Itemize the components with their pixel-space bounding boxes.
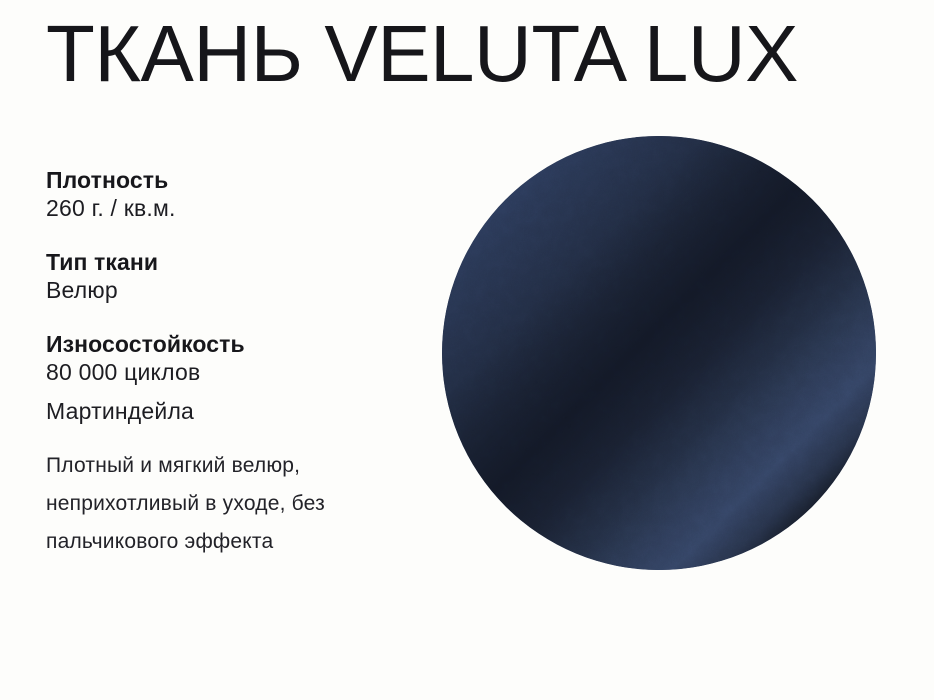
- spec-item-abrasion-resistance: Износостойкость 80 000 циклов Мартиндейл…: [46, 330, 426, 425]
- spec-value-abrasion-resistance: 80 000 циклов: [46, 358, 426, 386]
- spec-list: Плотность 260 г. / кв.м. Тип ткани Велюр…: [46, 166, 426, 425]
- spec-value-abrasion-resistance-unit: Мартиндейла: [46, 397, 426, 425]
- spec-value-density: 260 г. / кв.м.: [46, 194, 426, 222]
- spec-item-fabric-type: Тип ткани Велюр: [46, 248, 426, 304]
- spec-label-fabric-type: Тип ткани: [46, 248, 426, 276]
- spec-value-fabric-type: Велюр: [46, 276, 426, 304]
- spec-item-density: Плотность 260 г. / кв.м.: [46, 166, 426, 222]
- spec-label-density: Плотность: [46, 166, 426, 194]
- fabric-swatch-image: [442, 136, 876, 570]
- fabric-spec-card: ТКАНЬ VELUTA LUX Плотность 260 г. / кв.м…: [0, 0, 934, 700]
- fabric-description: Плотный и мягкий велюр, неприхотливый в …: [46, 447, 446, 561]
- spec-label-abrasion-resistance: Износостойкость: [46, 330, 426, 358]
- fabric-swatch-circle: [442, 136, 876, 570]
- page-title: ТКАНЬ VELUTA LUX: [46, 14, 798, 94]
